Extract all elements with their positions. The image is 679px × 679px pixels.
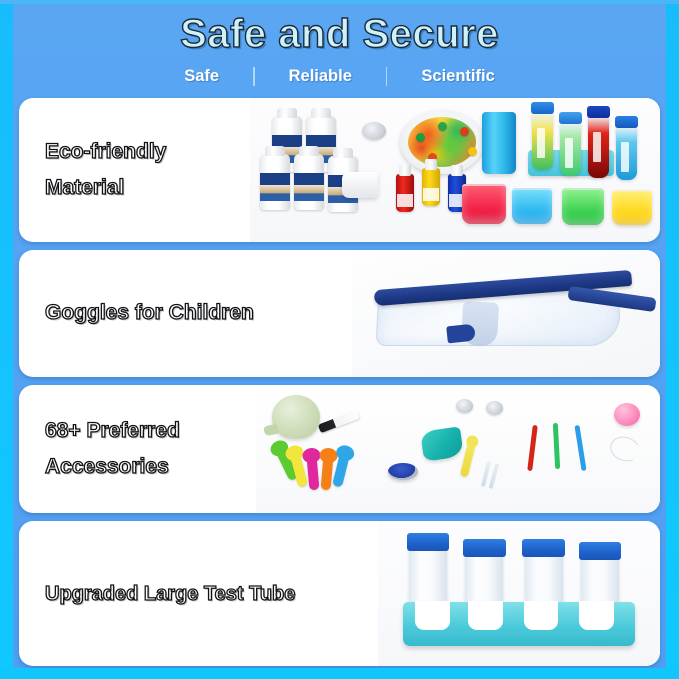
beaker-cyan [512, 188, 552, 224]
latex-gloves [420, 427, 464, 462]
measuring-spoon-orange [321, 456, 334, 491]
rack-slot [468, 601, 503, 630]
dropper-bottle-yellow [422, 168, 440, 206]
pipe-cleaner-red [527, 425, 538, 471]
spatula [460, 441, 476, 478]
subtitle-scientific: Scientific [387, 67, 528, 86]
colored-gel [408, 117, 476, 167]
left-edge-strip [0, 0, 13, 679]
tube-label-strip [621, 142, 629, 172]
blue-frame-safety-goggles [377, 280, 635, 352]
tube-cap [615, 116, 638, 128]
rack-slot [415, 601, 450, 630]
test-tube-cap [407, 533, 450, 551]
top-edge-strip [0, 0, 679, 4]
large-test-tubes-in-rack-photo [378, 521, 660, 666]
tube-cap [587, 106, 610, 118]
card-label-preferred-accessories: 68+ Preferred Accessories [19, 413, 180, 485]
rack-slot [524, 601, 559, 630]
card-label-upgraded-large-test-tube: Upgraded Large Test Tube [19, 577, 295, 611]
feature-card-upgraded-large-test-tube: Upgraded Large Test Tube [19, 521, 660, 666]
pipe-cleaner-blue [575, 425, 587, 471]
small-test-tube [489, 463, 500, 489]
chemistry-bottles-and-colored-liquids-photo [250, 98, 660, 241]
header: Safe and Secure Safe Reliable Scientific [13, 0, 666, 86]
subtitle-row: Safe Reliable Scientific [13, 67, 666, 86]
test-tube-cap [463, 539, 506, 557]
tube-label-strip [593, 132, 601, 162]
tall-blue-bottle [482, 112, 516, 174]
subtitle-safe: Safe [150, 67, 253, 86]
card-label-goggles-for-children: Goggles for Children [19, 295, 254, 331]
beaker-red [462, 184, 506, 224]
subtitle-reliable: Reliable [255, 67, 386, 86]
beaker-yellow [612, 190, 652, 225]
tube-label-strip [565, 138, 573, 168]
test-tube-cap [579, 542, 622, 560]
test-tube-green [532, 112, 553, 170]
tube-label-strip [537, 128, 545, 158]
tealight-candle [388, 463, 418, 480]
test-tube-red [588, 116, 609, 178]
pink-balloon [614, 403, 640, 426]
beaker-green [562, 188, 604, 225]
bottom-edge-strip [0, 668, 679, 679]
feature-card-eco-friendly-material: Eco-friendly Material [19, 98, 660, 241]
reagent-bottle [260, 154, 290, 210]
feature-card-goggles-for-children: Goggles for Children [19, 250, 660, 378]
test-tube-lightgreen [560, 122, 581, 176]
tube-cap [531, 102, 554, 114]
marker-pen [318, 410, 360, 433]
test-tube-cap [522, 539, 565, 557]
rack-slot [579, 601, 614, 630]
watch-glass-lens [456, 399, 473, 413]
measuring-spoon-magenta [307, 456, 320, 491]
lab-accessories-photo [256, 385, 660, 513]
reagent-bottle [294, 154, 324, 210]
watch-glass-lens [486, 401, 503, 415]
funnel [272, 395, 320, 439]
feature-card-list: Eco-friendly Material [13, 86, 666, 679]
test-tube-blue [616, 126, 637, 180]
dropper-bottle-red [396, 174, 414, 212]
coiled-wire [607, 433, 643, 465]
infographic-page: Safe and Secure Safe Reliable Scientific… [0, 0, 679, 679]
safety-goggles-photo [352, 250, 660, 378]
lying-bottle [342, 172, 378, 198]
card-label-eco-friendly-material: Eco-friendly Material [19, 134, 166, 206]
tube-cap [559, 112, 582, 124]
petri-dish-with-colored-gel [400, 110, 484, 174]
right-edge-strip [666, 0, 679, 679]
page-title: Safe and Secure [13, 13, 666, 56]
feature-card-preferred-accessories: 68+ Preferred Accessories [19, 385, 660, 513]
watch-glass [362, 122, 386, 140]
turquoise-rack [403, 602, 634, 645]
pipe-cleaner-green [553, 423, 560, 469]
